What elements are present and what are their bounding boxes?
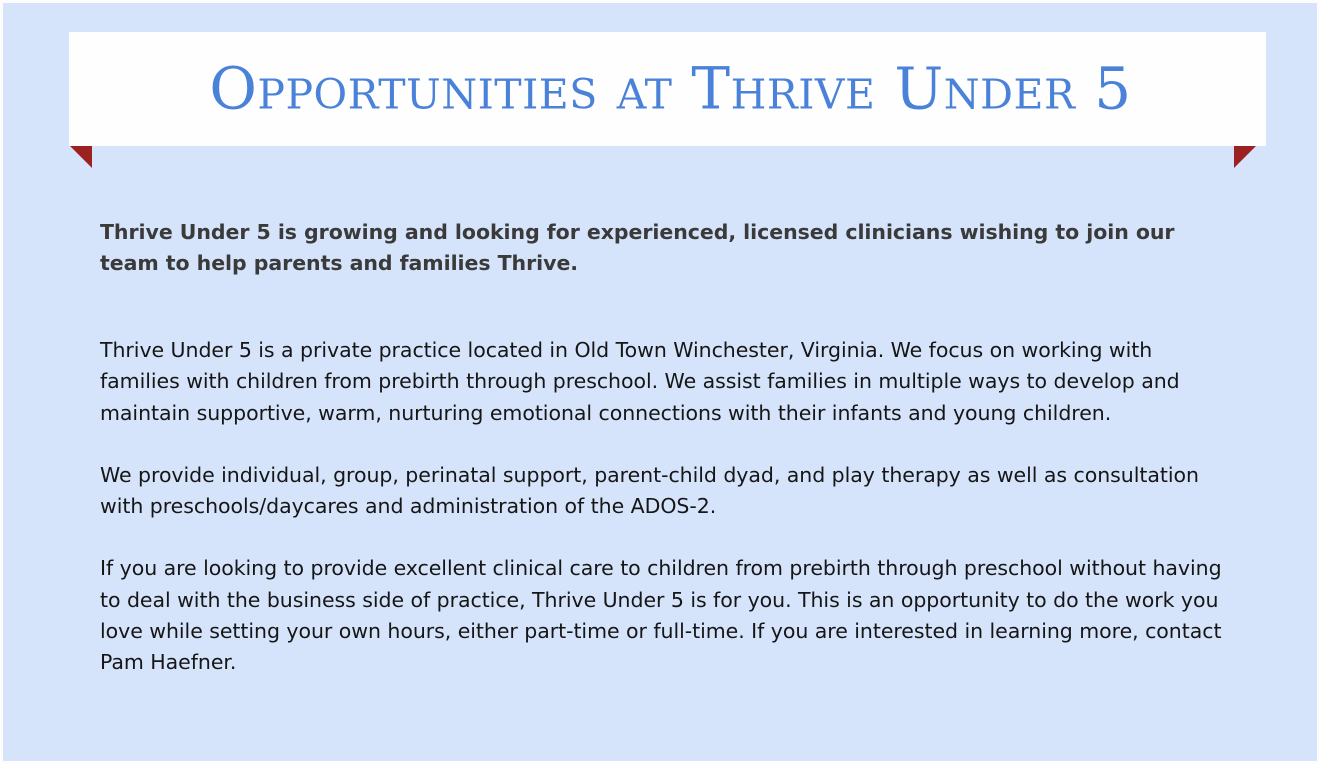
body-paragraph-3: If you are looking to provide excellent … (100, 553, 1228, 678)
content-body: Thrive Under 5 is growing and looking fo… (100, 217, 1228, 679)
title-banner: Opportunities at Thrive Under 5 (69, 32, 1266, 146)
page-title: Opportunities at Thrive Under 5 (69, 59, 1266, 120)
ribbon-fold-left-icon (70, 146, 92, 168)
page-title-number: 5 (1094, 55, 1131, 123)
slide-page: Opportunities at Thrive Under 5 Thrive U… (0, 0, 1320, 764)
lead-paragraph: Thrive Under 5 is growing and looking fo… (100, 217, 1228, 279)
lead-spacer (100, 279, 1228, 335)
body-paragraph-1: Thrive Under 5 is a private practice loc… (100, 335, 1228, 429)
body-paragraph-2: We provide individual, group, perinatal … (100, 460, 1228, 523)
banner-background: Opportunities at Thrive Under 5 (69, 32, 1266, 146)
page-title-text: Opportunities at Thrive Under (209, 55, 1094, 123)
ribbon-fold-right-icon (1234, 146, 1256, 168)
